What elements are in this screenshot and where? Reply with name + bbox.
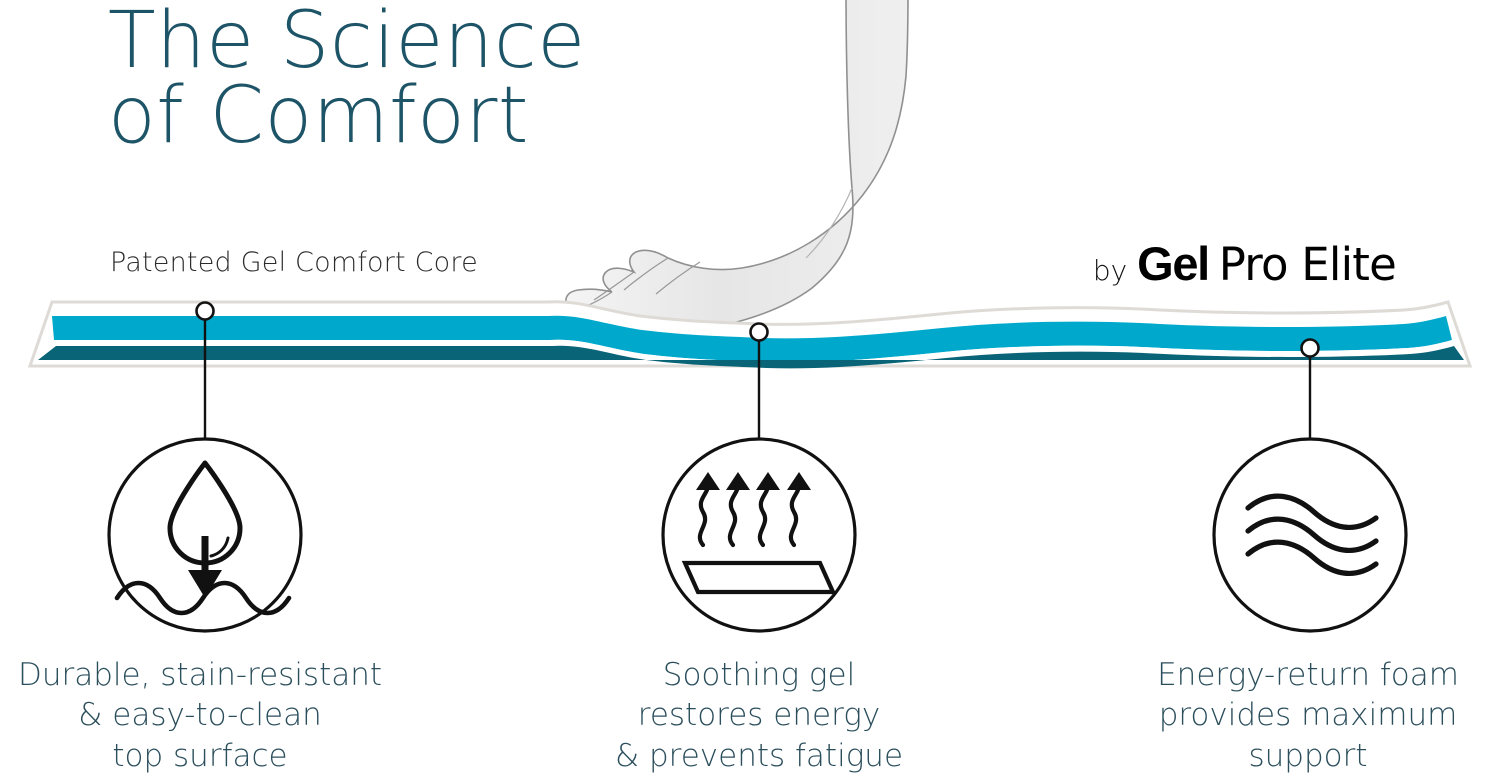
down-arrow-head <box>188 570 222 598</box>
callout-dot-3 <box>1302 340 1319 357</box>
feature-circle-2 <box>663 439 855 631</box>
water-waves <box>117 583 289 613</box>
callout-durable-top-surface <box>109 303 301 632</box>
toe-line-1 <box>572 292 612 310</box>
wavy-arrow-head-4 <box>787 472 811 490</box>
wavy-arrow-head-1 <box>696 472 720 490</box>
mat-layer-divider <box>54 340 1454 369</box>
brand-gel-text: Gel <box>1137 236 1209 291</box>
ankle-contour <box>806 188 852 258</box>
gel-bottom-foam-layer <box>38 346 1464 369</box>
brand-lockup: by Gel Pro Elite <box>1093 236 1396 291</box>
wavy-arrow-stem-4 <box>791 486 799 545</box>
callout-soothing-gel <box>663 324 855 632</box>
infographic-canvas: The Science of Comfort Patented Gel Comf… <box>0 0 1500 778</box>
wavy-up-arrow-1 <box>696 472 720 545</box>
toe-line-2 <box>594 272 634 300</box>
page-title: The Science of Comfort <box>108 4 728 154</box>
feature-caption-energy-return-foam: Energy-return foam provides maximum supp… <box>1117 655 1499 776</box>
gel-core-label: Patented Gel Comfort Core <box>110 247 478 278</box>
wavy-arrow-stem-2 <box>730 486 738 545</box>
callout-energy-return-foam <box>1214 340 1406 632</box>
flat-mat-parallelogram <box>685 563 833 592</box>
water-drop-repel-icon <box>117 463 289 613</box>
wavy-arrow-head-2 <box>726 472 750 490</box>
wavy-arrow-stem-1 <box>700 486 708 545</box>
energy-rising-arrows-icon <box>685 472 833 592</box>
feature-caption-soothing-gel: Soothing gel restores energy & prevents … <box>566 655 952 776</box>
wavy-arrow-stem-3 <box>760 486 768 545</box>
callout-dot-1 <box>197 303 214 320</box>
brand-by-text: by <box>1093 254 1127 287</box>
wave-line-2 <box>1248 519 1376 550</box>
gel-top-layer <box>52 316 1452 363</box>
gel-mat-cross-section <box>30 302 1470 369</box>
wavy-arrow-head-3 <box>756 472 780 490</box>
wave-line-1 <box>1248 496 1376 527</box>
wave-lines-icon <box>1248 496 1376 573</box>
wavy-up-arrow-2 <box>726 472 750 545</box>
brand-proelite-text: Pro Elite <box>1219 238 1396 291</box>
droplet-highlight <box>211 538 228 556</box>
callout-dot-2 <box>751 324 768 341</box>
feature-circle-1 <box>109 439 301 631</box>
wavy-up-arrow-3 <box>756 472 780 545</box>
wave-line-3 <box>1248 542 1376 573</box>
droplet-shape <box>170 463 240 563</box>
wavy-up-arrow-4 <box>787 472 811 545</box>
feature-circle-3 <box>1214 439 1406 631</box>
toe-line-3 <box>624 258 668 290</box>
feature-caption-durable-top-surface: Durable, stain-resistant & easy-to-clean… <box>0 655 400 776</box>
mat-outer-shell <box>30 302 1470 366</box>
toe-line-4 <box>656 262 700 294</box>
